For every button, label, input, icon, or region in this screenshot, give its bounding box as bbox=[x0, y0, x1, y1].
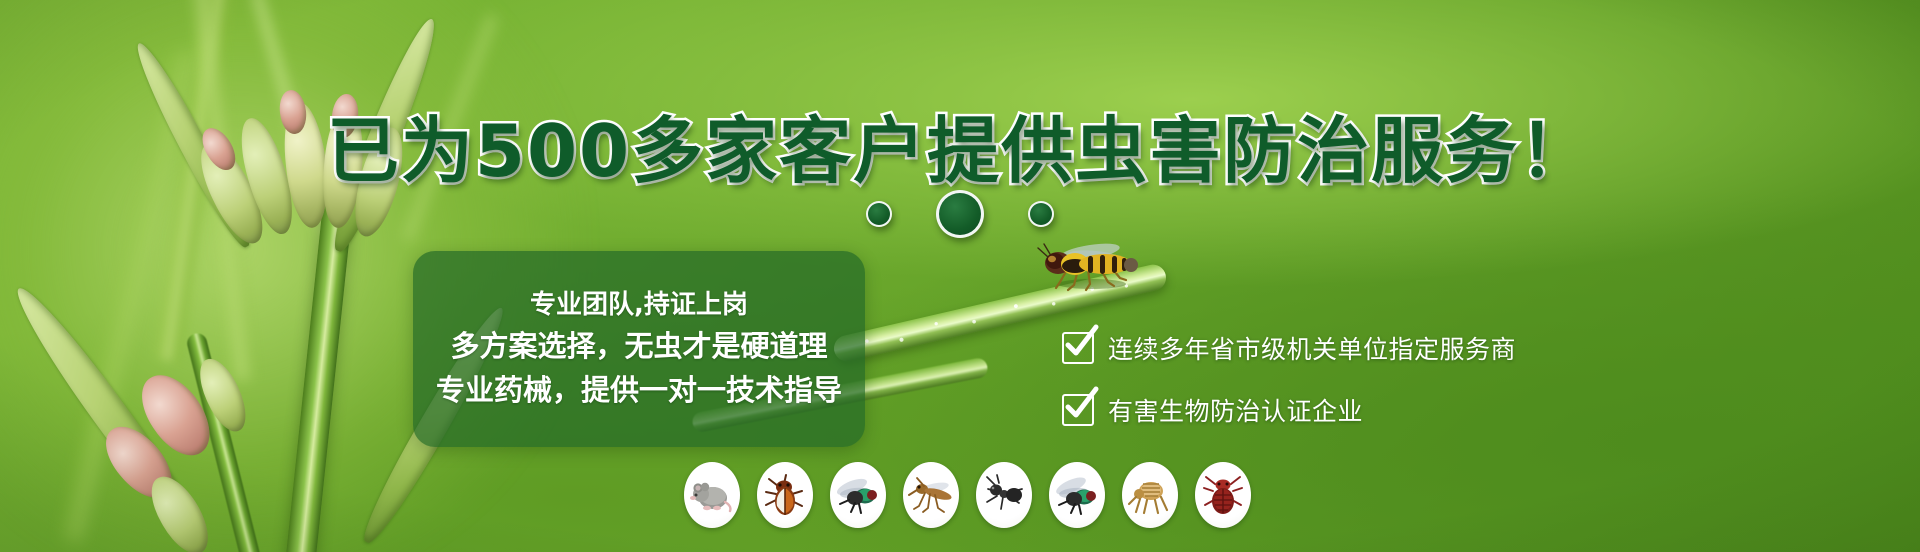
pest-badge-house-fly bbox=[1049, 462, 1105, 528]
dot-large-center-icon bbox=[936, 190, 984, 238]
dot-small-right-icon bbox=[1028, 201, 1054, 227]
pest-badge-mouse bbox=[684, 462, 740, 528]
bedbug-icon bbox=[1200, 472, 1246, 518]
pest-badge-bottle-fly bbox=[830, 462, 886, 528]
selling-point-line-1: 专业团队,持证上岗 bbox=[530, 288, 748, 323]
banner-headline: 已为500多家客户提供虫害防治服务！ bbox=[0, 92, 1920, 197]
credential-bullet-1: 连续多年省市级机关单位指定服务商 bbox=[1062, 330, 1516, 366]
decorative-dot-row bbox=[0, 190, 1920, 238]
pest-badge-bedbug bbox=[1195, 462, 1251, 528]
ant-icon bbox=[981, 472, 1027, 518]
credential-bullet-2-label: 有害生物防治认证企业 bbox=[1108, 392, 1363, 428]
credential-bullet-2: 有害生物防治认证企业 bbox=[1062, 392, 1516, 428]
bottle-fly-icon bbox=[835, 472, 881, 518]
credential-bullet-list: 连续多年省市级机关单位指定服务商 有害生物防治认证企业 bbox=[1062, 330, 1516, 428]
pest-badge-flea bbox=[1122, 462, 1178, 528]
flea-icon bbox=[1127, 472, 1173, 518]
selling-points-panel: 专业团队,持证上岗 多方案选择，无虫才是硬道理 专业药械，提供一对一技术指导 bbox=[413, 251, 865, 447]
pest-icon-row bbox=[684, 462, 1251, 528]
dot-small-left-icon bbox=[866, 201, 892, 227]
cockroach-icon bbox=[762, 472, 808, 518]
selling-point-line-3: 专业药械，提供一对一技术指导 bbox=[436, 371, 842, 410]
pest-badge-mosquito bbox=[903, 462, 959, 528]
selling-point-line-2: 多方案选择，无虫才是硬道理 bbox=[450, 327, 827, 366]
pest-badge-ant bbox=[976, 462, 1032, 528]
mosquito-icon bbox=[908, 472, 954, 518]
check-box-icon bbox=[1062, 394, 1094, 426]
mouse-icon bbox=[689, 472, 735, 518]
pest-control-hero-banner: 已为500多家客户提供虫害防治服务！ 专业团队,持证上岗 多方案选择，无虫才是硬… bbox=[0, 0, 1920, 552]
check-box-icon bbox=[1062, 332, 1094, 364]
house-fly-icon bbox=[1054, 472, 1100, 518]
pest-badge-cockroach bbox=[757, 462, 813, 528]
credential-bullet-1-label: 连续多年省市级机关单位指定服务商 bbox=[1108, 330, 1516, 366]
